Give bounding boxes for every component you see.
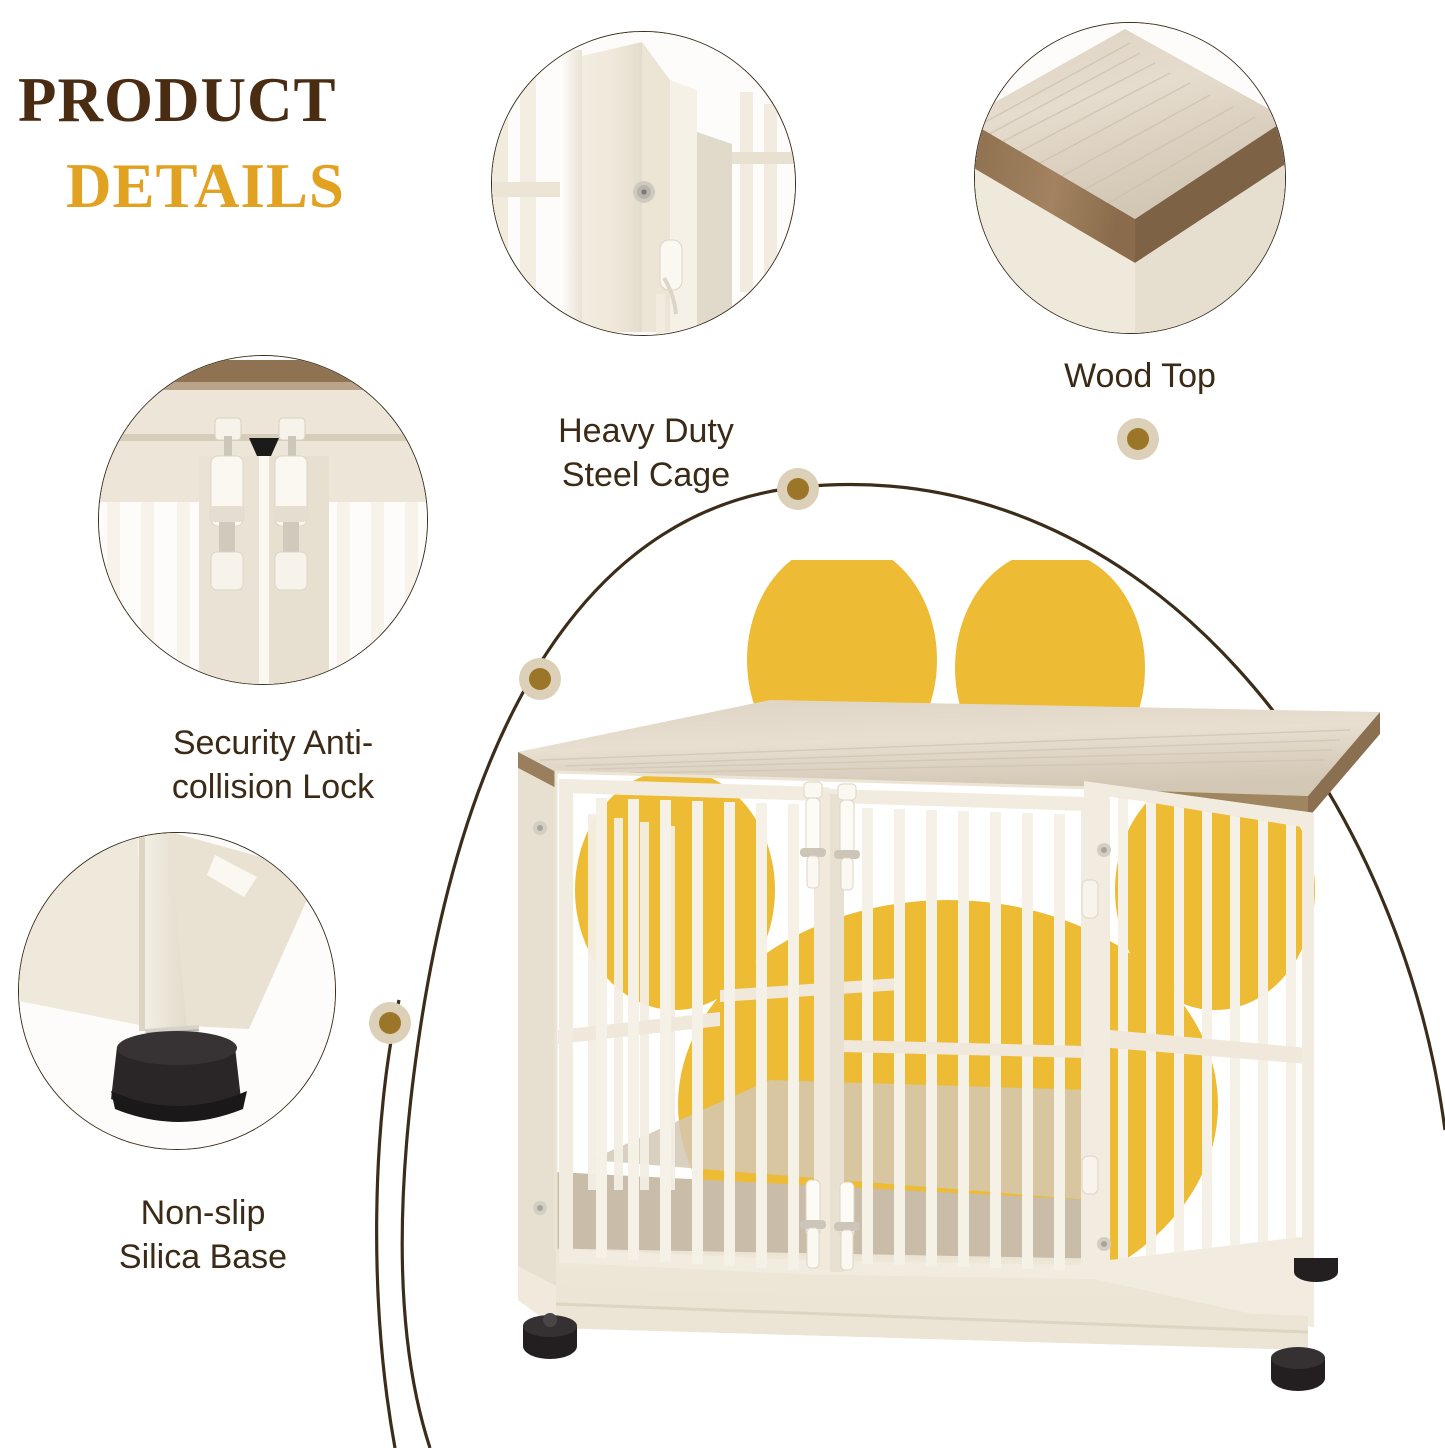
silica-foot-photo [18,832,336,1150]
page-title: PRODUCT DETAILS [18,68,448,219]
wood-top-corner-photo [974,22,1286,334]
cage-corner-latch-photo [491,31,796,336]
connector-dot-wood-top [1117,418,1159,460]
callout-label-heavy-duty-steel-cage: Heavy Duty Steel Cage [481,410,811,497]
product-main-photo [470,560,1430,1410]
product-details-infographic: PRODUCT DETAILS [0,0,1445,1448]
title-line-product: PRODUCT [18,68,448,132]
callout-label-non-slip-silica-base: Non-slip Silica Base [48,1192,358,1279]
connector-dot-silica-base [369,1002,411,1044]
callout-label-wood-top: Wood Top [975,355,1305,399]
title-line-details: DETAILS [18,154,448,218]
slide-bolt-lock-photo [98,355,428,685]
callout-label-security-anti-collision-lock: Security Anti- collision Lock [88,722,458,809]
